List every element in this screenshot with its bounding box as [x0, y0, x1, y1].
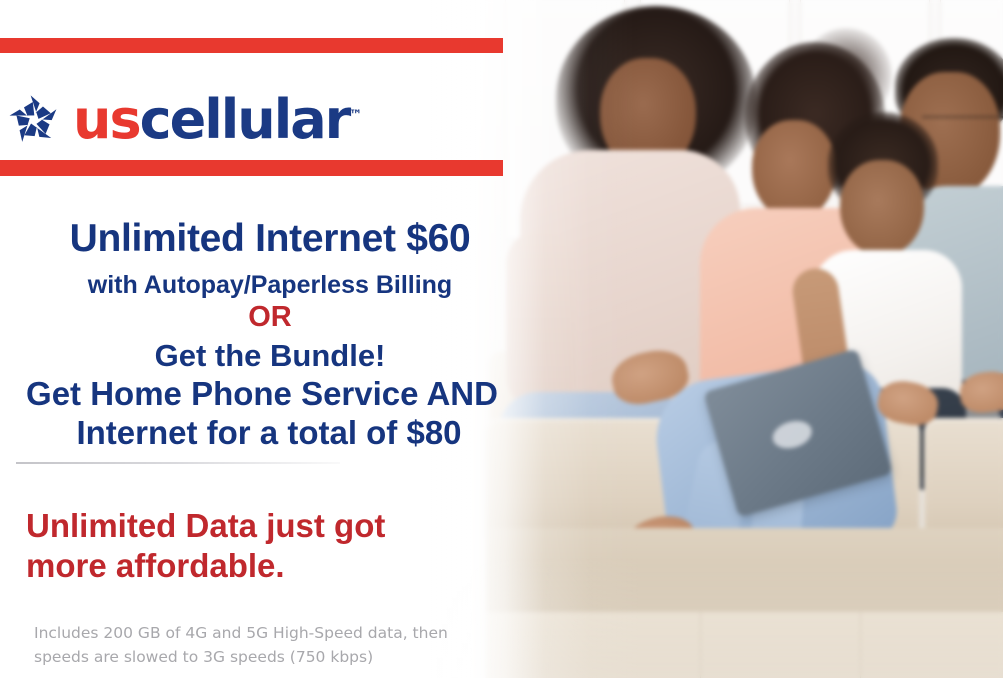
fine-print: Includes 200 GB of 4G and 5G High-Speed …: [34, 622, 534, 669]
bundle-heading: Get the Bundle!: [0, 338, 540, 373]
section-divider: [16, 462, 340, 464]
uscellular-wordmark: uscellular™: [73, 93, 362, 147]
offer-subline: with Autopay/Paperless Billing: [0, 272, 540, 300]
tagline-line-1: Unlimited Data just got: [26, 506, 496, 546]
logo-word-us: us: [73, 88, 140, 151]
logo-word-cellular: cellular: [140, 88, 350, 151]
bundle-detail-line-2: Internet for a total of $80: [0, 414, 542, 453]
red-rule-top: [0, 38, 503, 53]
fine-print-line-1: Includes 200 GB of 4G and 5G High-Speed …: [34, 622, 534, 646]
trademark-symbol: ™: [349, 108, 362, 123]
tagline: Unlimited Data just got more affordable.: [26, 506, 496, 587]
red-rule-bottom: [0, 160, 503, 176]
fine-print-line-2: speeds are slowed to 3G speeds (750 kbps…: [34, 646, 534, 670]
tagline-line-2: more affordable.: [26, 546, 496, 586]
promo-content: uscellular™ Unlimited Internet $60 with …: [0, 0, 1003, 678]
bundle-detail: Get Home Phone Service AND Internet for …: [0, 375, 542, 453]
or-separator: OR: [0, 302, 540, 334]
offer-headline: Unlimited Internet $60: [0, 218, 540, 259]
uscellular-star-logo-icon: [4, 92, 64, 148]
uscellular-logo: uscellular™: [4, 92, 362, 148]
bundle-detail-line-1: Get Home Phone Service AND: [0, 375, 542, 414]
promo-ad: uscellular™ Unlimited Internet $60 with …: [0, 0, 1003, 678]
